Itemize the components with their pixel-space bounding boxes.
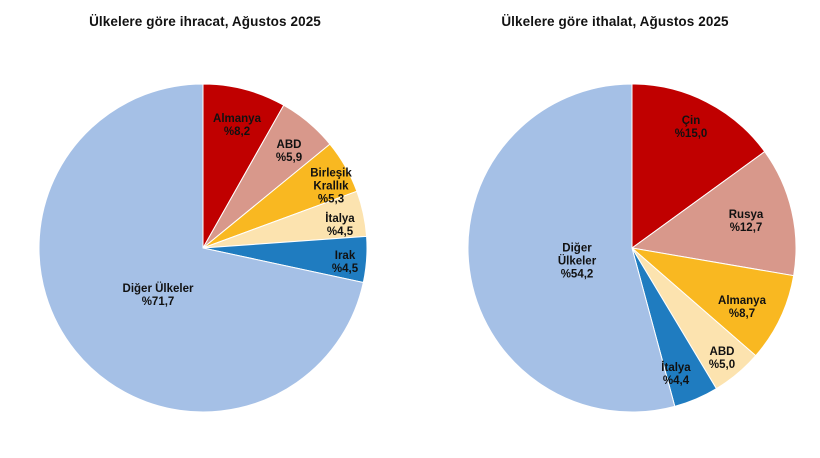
chart-panel-exports: Ülkelere göre ihracat, Ağustos 2025 Alma… bbox=[0, 0, 410, 458]
pie-chart-imports: Çin%15,0Rusya%12,7Almanya%8,7ABD%5,0İtal… bbox=[410, 0, 820, 458]
pie-imports-svg bbox=[410, 0, 820, 458]
pie-chart-exports: Almanya%8,2ABD%5,9BirleşikKrallık%5,3İta… bbox=[0, 0, 410, 458]
pie-exports-svg bbox=[0, 0, 410, 458]
pie-charts-page: Ülkelere göre ihracat, Ağustos 2025 Alma… bbox=[0, 0, 820, 458]
chart-panel-imports: Ülkelere göre ithalat, Ağustos 2025 Çin%… bbox=[410, 0, 820, 458]
